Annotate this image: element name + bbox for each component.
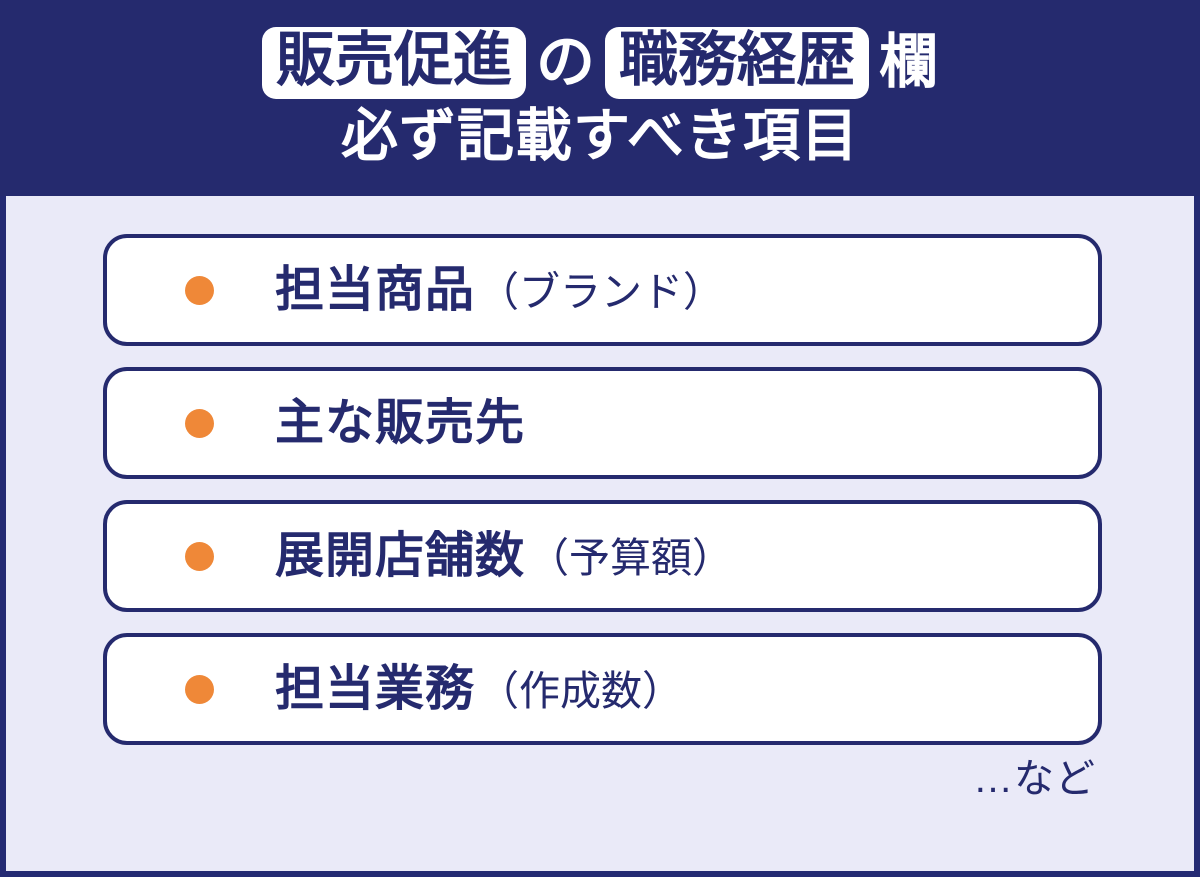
list-item-text: 担当業務 （作成数） [275, 665, 683, 714]
list-item-label: 主な販売先 [275, 399, 525, 448]
list-item-label: 担当業務 [275, 665, 475, 714]
list-item-note: （ブランド） [478, 272, 724, 313]
bullet-dot-icon [185, 542, 214, 571]
title-chip-sales-promotion: 販売促進 [262, 27, 526, 99]
required-items-list: 担当商品 （ブランド） 主な販売先 展開店舗数 （予算額） [6, 234, 1194, 745]
title-suffix-column: 欄 [879, 32, 938, 94]
list-item-label: 展開店舗数 [275, 532, 525, 581]
list-item-text: 主な販売先 [275, 399, 525, 448]
bullet-dot-icon [185, 409, 214, 438]
title-chip-work-history: 職務経歴 [605, 27, 869, 99]
list-item: 担当業務 （作成数） [103, 633, 1102, 745]
list-item: 展開店舗数 （予算額） [103, 500, 1102, 612]
list-item-note: （作成数） [478, 671, 683, 712]
infographic-root: 販売促進 の 職務経歴 欄 必ず記載すべき項目 担当商品 （ブランド） 主な販売… [0, 0, 1200, 877]
list-item: 担当商品 （ブランド） [103, 234, 1102, 346]
footnote-etc: …など [6, 745, 1194, 799]
title-line-1: 販売促進 の 職務経歴 欄 [262, 27, 938, 99]
list-item: 主な販売先 [103, 367, 1102, 479]
bullet-dot-icon [185, 675, 214, 704]
header-banner: 販売促進 の 職務経歴 欄 必ず記載すべき項目 [0, 0, 1200, 196]
list-item-note: （予算額） [528, 538, 733, 579]
title-line-2: 必ず記載すべき項目 [341, 105, 859, 168]
title-connector-no: の [536, 32, 595, 94]
list-item-label: 担当商品 [275, 266, 475, 315]
list-item-text: 展開店舗数 （予算額） [275, 532, 733, 581]
body-area: 担当商品 （ブランド） 主な販売先 展開店舗数 （予算額） [6, 196, 1194, 871]
bullet-dot-icon [185, 276, 214, 305]
list-item-text: 担当商品 （ブランド） [275, 266, 724, 315]
